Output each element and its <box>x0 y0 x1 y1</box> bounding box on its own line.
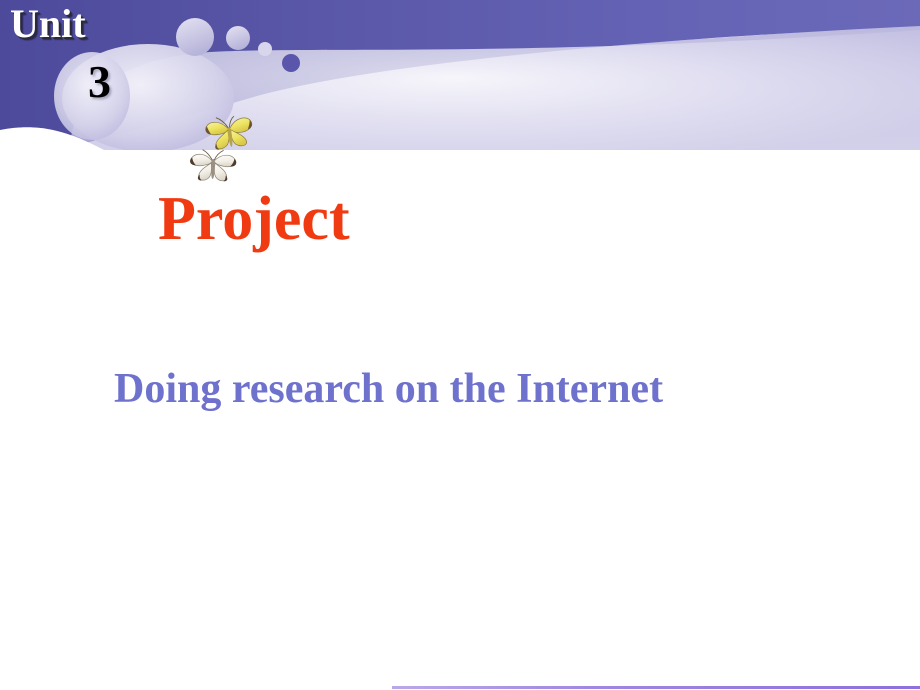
decor-circle-dark <box>282 54 300 72</box>
page-subtitle: Doing research on the Internet <box>114 364 663 414</box>
footer-rule <box>392 686 920 689</box>
decor-circle-small <box>258 42 272 56</box>
unit-label: Unit <box>10 2 86 46</box>
page-title: Project <box>158 186 350 252</box>
butterfly-white-icon <box>186 147 239 187</box>
decor-circle-medium <box>226 26 250 50</box>
unit-number: 3 <box>88 58 111 106</box>
slide-header-banner <box>0 0 920 150</box>
decor-circle-large <box>176 18 214 56</box>
banner-graphic <box>0 0 920 150</box>
presentation-slide: Unit 3 <box>0 0 920 690</box>
